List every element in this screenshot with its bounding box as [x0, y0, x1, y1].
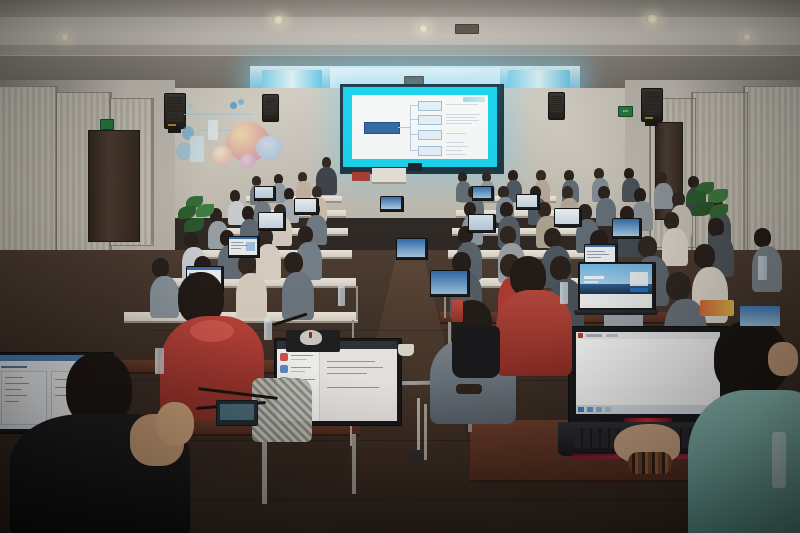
ceiling-beam-mid — [0, 45, 800, 55]
ceiling-spotlight-1 — [272, 16, 285, 24]
snack-package — [700, 300, 734, 316]
partition-panel-left-1 — [0, 86, 58, 258]
water-bottle-3 — [155, 348, 164, 374]
water-bottle-2 — [264, 318, 272, 340]
mindmap-root-node — [364, 122, 400, 134]
speaker-bracket-right — [645, 119, 658, 126]
ceiling-spotlight-3 — [646, 15, 659, 23]
table-leg-7 — [352, 434, 356, 494]
chair-caster — [408, 450, 422, 462]
ceiling-projector-mount — [455, 24, 479, 34]
exit-sign: EXIT — [618, 106, 633, 117]
sandal — [456, 384, 482, 394]
table-leg-1 — [356, 286, 358, 320]
lanyard — [772, 432, 786, 488]
wall-speaker-center-right — [548, 92, 565, 120]
wall-speaker-right — [641, 88, 663, 122]
booklet — [740, 306, 780, 326]
slide-content — [352, 95, 488, 159]
wall-art-decal — [168, 96, 288, 176]
backpack-on-floor — [452, 326, 500, 378]
chair-leg-2 — [417, 398, 420, 450]
partition-seam-right-1 — [743, 86, 745, 258]
water-bottle-4 — [560, 282, 568, 304]
exit-sign-label: EXIT — [619, 107, 632, 115]
beaded-bracelet — [628, 452, 672, 474]
water-bottle-5 — [758, 256, 767, 280]
travel-mug — [452, 300, 463, 322]
mindmap-branch-1 — [418, 101, 442, 111]
led-strip-right — [508, 70, 570, 90]
podium-table — [372, 168, 406, 184]
smartphone[interactable] — [216, 400, 258, 426]
mindmap-branch-2 — [418, 115, 442, 125]
ceiling-beam-front — [0, 0, 800, 17]
table-leg-6 — [262, 434, 267, 504]
paper-cup — [398, 344, 414, 356]
ceiling-spotlight-2 — [418, 25, 429, 32]
mouse[interactable] — [300, 330, 322, 345]
partition-seam-left-3 — [151, 98, 153, 244]
potted-plant-left — [178, 196, 218, 240]
exit-sign-left — [100, 119, 114, 130]
chair-leg-3 — [424, 404, 427, 460]
classroom-scene: EXIT — [0, 0, 800, 533]
led-strip-left — [262, 70, 322, 90]
ceiling-spotlight-5 — [742, 34, 752, 40]
water-bottle-1 — [338, 286, 345, 306]
partition-panel-right-1 — [744, 86, 800, 260]
front-table-banner — [352, 172, 370, 181]
attendee-checked-trousers — [252, 378, 312, 442]
mindmap-spine — [410, 105, 411, 151]
partition-seam-left-1 — [55, 86, 57, 256]
slide-logo-watermark — [463, 97, 485, 102]
ceiling-spotlight-4 — [60, 34, 70, 40]
mindmap-root-connector — [398, 127, 410, 128]
potted-plant-right — [686, 182, 732, 224]
mindmap-branch-4 — [418, 146, 442, 156]
mindmap-branch-3 — [418, 130, 442, 140]
door-left[interactable] — [88, 130, 140, 242]
screen-mount-bracket — [408, 163, 422, 171]
